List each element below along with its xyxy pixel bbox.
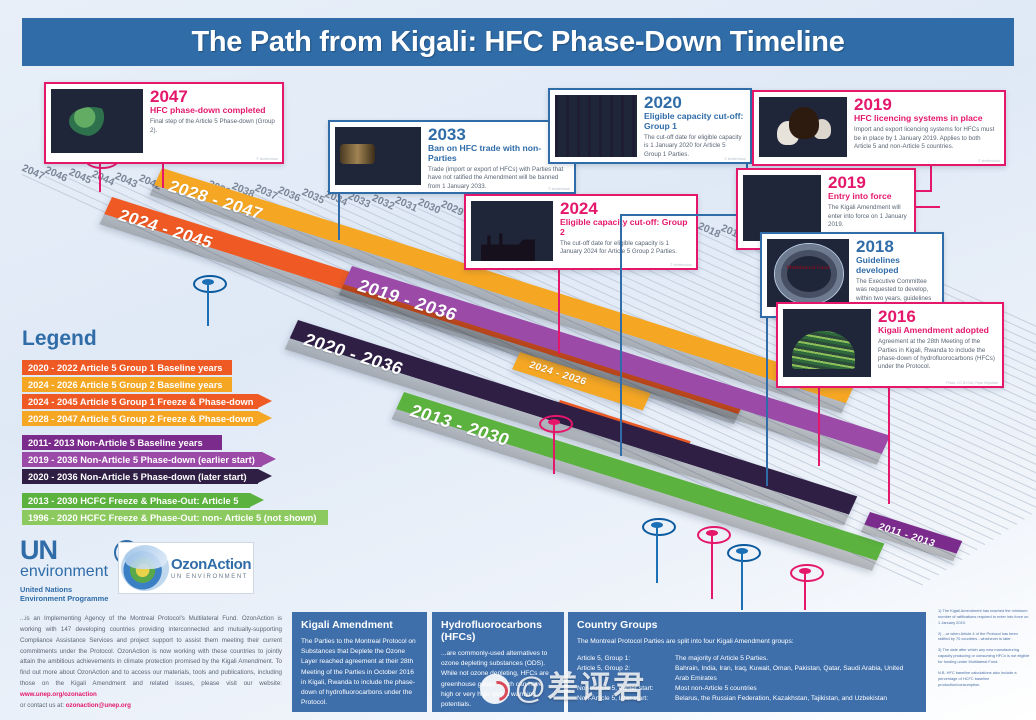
card-year: 2016 bbox=[878, 308, 996, 325]
un-environment-word: environment bbox=[20, 564, 108, 580]
card-headline: Entry into force bbox=[828, 192, 908, 202]
card-headline: Eligible capacity cut-off: Group 1 bbox=[644, 112, 744, 132]
card-connector bbox=[620, 214, 748, 216]
legend-group: 2013 - 2030 HCFC Freeze & Phase-Out: Art… bbox=[22, 493, 367, 525]
kigali-amendment-box: Kigali Amendment The Parties to the Mont… bbox=[292, 612, 427, 712]
card-text: The cut-off date for eligible capacity i… bbox=[560, 240, 690, 257]
legend-item[interactable]: 2011- 2013 Non-Article 5 Baseline years bbox=[22, 435, 367, 450]
page-title: The Path from Kigali: HFC Phase-Down Tim… bbox=[191, 26, 844, 59]
card-connector bbox=[888, 384, 890, 504]
card-year: 2019 bbox=[828, 174, 908, 191]
legend-item[interactable]: 2024 - 2045 Article 5 Group 1 Freeze & P… bbox=[22, 394, 367, 409]
card-text: The Kigali Amendment will enter into for… bbox=[828, 204, 908, 229]
card-thumbnail bbox=[51, 89, 143, 153]
legend-item[interactable]: 2028 - 2047 Article 5 Group 2 Freeze & P… bbox=[22, 411, 367, 426]
card-connector bbox=[930, 162, 932, 190]
card-thumbnail bbox=[335, 127, 421, 185]
card-headline: Guidelines developed bbox=[856, 256, 936, 276]
pin-stem bbox=[207, 282, 209, 326]
card-connector bbox=[620, 214, 622, 456]
legend-item[interactable]: 2020 - 2022 Article 5 Group 1 Baseline y… bbox=[22, 360, 367, 375]
footnote: 2) ...or when Article 4 of the Protocol … bbox=[938, 631, 1030, 643]
card-2047: 2047HFC phase-down completedFinal step o… bbox=[44, 82, 284, 164]
card-year: 2019 bbox=[854, 96, 998, 113]
card-credit: © shutterstock bbox=[724, 157, 746, 161]
card-thumbnail: Multilateral Fund bbox=[767, 239, 849, 307]
legend-groups: 2020 - 2022 Article 5 Group 1 Baseline y… bbox=[22, 360, 367, 525]
card-thumbnail bbox=[759, 97, 847, 157]
un-wordmark: UN bbox=[20, 538, 108, 563]
card-connector bbox=[558, 266, 560, 354]
legend-item-label: 2020 - 2022 Article 5 Group 1 Baseline y… bbox=[22, 363, 222, 373]
legend-item[interactable]: 2013 - 2030 HCFC Freeze & Phase-Out: Art… bbox=[22, 493, 367, 508]
card-year: 2020 bbox=[644, 94, 744, 111]
legend-arrow-icon bbox=[258, 411, 272, 425]
unep-paragraph-text: ...is an Implementing Agency of the Mont… bbox=[20, 615, 282, 687]
card-text: Trade (import or export of HFCs) with Pa… bbox=[428, 166, 568, 191]
legend-item-label: 2024 - 2026 Article 5 Group 2 Baseline y… bbox=[22, 380, 222, 390]
card-credit: Photo: CC BY-SA | Ryan Kilpatrick bbox=[946, 381, 998, 385]
card-2019-licencing: 2019HFC licencing systems in placeImport… bbox=[752, 90, 1006, 166]
pin-stem bbox=[804, 571, 806, 610]
weibo-icon bbox=[480, 674, 510, 704]
infographic-root: The Path from Kigali: HFC Phase-Down Tim… bbox=[0, 0, 1036, 720]
legend-item-label: 2028 - 2047 Article 5 Group 2 Freeze & P… bbox=[22, 414, 253, 424]
card-2016: 2016Kigali Amendment adoptedAgreement at… bbox=[776, 302, 1004, 388]
country-group-value: Belarus, the Russian Federation, Kazakhs… bbox=[675, 694, 887, 704]
mlf-logo-text: Multilateral Fund bbox=[774, 265, 843, 271]
card-headline: Eligible capacity cut-off: Group 2 bbox=[560, 218, 690, 238]
footnote: 3) The date after which any new manufact… bbox=[938, 647, 1030, 665]
card-2024: 2024Eligible capacity cut-off: Group 2Th… bbox=[464, 194, 698, 270]
footnotes: 1) The Kigali Amendment has reached the … bbox=[938, 608, 1030, 692]
footnote: N.B. HFC baseline calculations also incl… bbox=[938, 670, 1030, 688]
card-text: Import and export licencing systems for … bbox=[854, 126, 998, 151]
card-headline: HFC licencing systems in place bbox=[854, 114, 998, 124]
card-thumbnail bbox=[471, 201, 553, 261]
ozonaction-wordmark: OzonAction bbox=[171, 557, 251, 572]
legend-item[interactable]: 2024 - 2026 Article 5 Group 2 Baseline y… bbox=[22, 377, 367, 392]
country-group-value: Most non-Article 5 countries bbox=[675, 684, 757, 694]
ozonaction-logo: OzonAction UN ENVIRONMENT bbox=[118, 542, 254, 594]
kigali-box-text: The Parties to the Montreal Protocol on … bbox=[301, 637, 418, 709]
page-header: The Path from Kigali: HFC Phase-Down Tim… bbox=[22, 18, 1014, 66]
card-headline: Ban on HFC trade with non-Parties bbox=[428, 144, 568, 164]
country-groups-title: Country Groups bbox=[577, 619, 917, 631]
pin-stem bbox=[741, 551, 743, 610]
ozonaction-hand-icon bbox=[121, 545, 169, 591]
legend-arrow-icon bbox=[258, 394, 272, 408]
pin-stem bbox=[553, 422, 555, 474]
card-year: 2047 bbox=[150, 88, 276, 105]
hfc-box-title: Hydrofluorocarbons (HFCs) bbox=[441, 619, 555, 643]
legend: Legend 2020 - 2022 Article 5 Group 1 Bas… bbox=[22, 327, 367, 534]
legend-item-label: 2013 - 2030 HCFC Freeze & Phase-Out: Art… bbox=[22, 496, 238, 506]
legend-arrow-icon bbox=[250, 493, 264, 507]
card-year: 2018 bbox=[856, 238, 936, 255]
card-credit: © shutterstock bbox=[670, 263, 692, 267]
country-group-value: Bahrain, India, Iran, Iraq, Kuwait, Oman… bbox=[675, 664, 917, 684]
footnote: 1) The Kigali Amendment has reached the … bbox=[938, 608, 1030, 626]
unep-contact-email[interactable]: ozonaction@unep.org bbox=[66, 702, 131, 709]
card-2020: 2020Eligible capacity cut-off: Group 1Th… bbox=[548, 88, 752, 164]
legend-arrow-icon bbox=[258, 469, 272, 483]
card-credit: © shutterstock bbox=[256, 157, 278, 161]
card-text: Agreement at the 28th Meeting of the Par… bbox=[878, 338, 996, 371]
card-text: The cut-off date for eligible capacity i… bbox=[644, 134, 744, 159]
legend-item-label: 2020 - 2036 Non-Article 5 Phase-down (la… bbox=[22, 472, 247, 482]
watermark: @差评君 bbox=[480, 662, 646, 707]
legend-item[interactable]: 2020 - 2036 Non-Article 5 Phase-down (la… bbox=[22, 469, 367, 484]
unep-paragraph: ...is an Implementing Agency of the Mont… bbox=[20, 614, 282, 712]
legend-item[interactable]: 2019 - 2036 Non-Article 5 Phase-down (ea… bbox=[22, 452, 367, 467]
kigali-box-title: Kigali Amendment bbox=[301, 619, 418, 631]
pin-stem bbox=[656, 525, 658, 583]
card-credit: © shutterstock bbox=[548, 187, 570, 191]
legend-item-label: 2019 - 2036 Non-Article 5 Phase-down (ea… bbox=[22, 455, 255, 465]
card-thumbnail bbox=[783, 309, 871, 377]
country-groups-intro: The Montreal Protocol Parties are split … bbox=[577, 637, 917, 647]
card-text: Final step of the Article 5 Phase-down (… bbox=[150, 118, 276, 135]
card-year: 2033 bbox=[428, 126, 568, 143]
legend-item[interactable]: 1996 - 2020 HCFC Freeze & Phase-Out: non… bbox=[22, 510, 367, 525]
card-thumbnail bbox=[555, 95, 637, 157]
ozonaction-subtitle: UN ENVIRONMENT bbox=[171, 574, 251, 580]
card-2033: 2033Ban on HFC trade with non-PartiesTra… bbox=[328, 120, 576, 194]
legend-item-label: 1996 - 2020 HCFC Freeze & Phase-Out: non… bbox=[22, 513, 316, 523]
legend-group: 2020 - 2022 Article 5 Group 1 Baseline y… bbox=[22, 360, 367, 426]
watermark-text: @差评君 bbox=[515, 670, 646, 705]
country-group-value: The majority of Article 5 Parties. bbox=[675, 654, 768, 664]
card-headline: HFC phase-down completed bbox=[150, 106, 276, 116]
card-connector bbox=[338, 190, 340, 240]
card-credit: © shutterstock bbox=[978, 159, 1000, 163]
legend-group: 2011- 2013 Non-Article 5 Baseline years2… bbox=[22, 435, 367, 484]
legend-title: Legend bbox=[22, 327, 367, 351]
legend-item-label: 2024 - 2045 Article 5 Group 1 Freeze & P… bbox=[22, 397, 253, 407]
unep-contact-prefix: or contact us at: bbox=[20, 702, 66, 709]
card-connector bbox=[162, 160, 164, 188]
card-headline: Kigali Amendment adopted bbox=[878, 326, 996, 336]
unep-website-link[interactable]: www.unep.org/ozonaction bbox=[20, 691, 97, 698]
legend-item-label: 2011- 2013 Non-Article 5 Baseline years bbox=[22, 438, 203, 448]
pin-stem bbox=[711, 533, 713, 599]
legend-arrow-icon bbox=[262, 452, 276, 466]
card-connector bbox=[766, 314, 768, 486]
